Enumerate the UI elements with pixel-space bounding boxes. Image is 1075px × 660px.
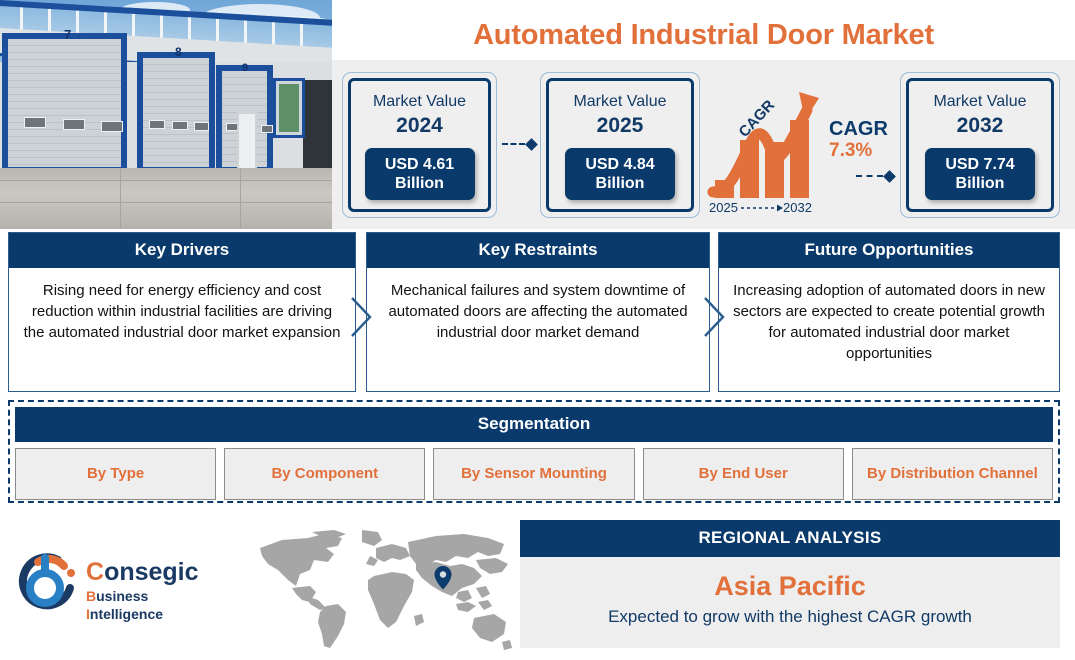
page-title: Automated Industrial Door Market	[332, 10, 1075, 60]
segmentation-item-by-component[interactable]: By Component	[224, 448, 425, 500]
panel-title: Key Drivers	[9, 233, 355, 268]
panel-future-opportunities: Future Opportunities Increasing adoption…	[718, 232, 1060, 392]
world-map-icon	[250, 530, 515, 655]
market-value-strip: Market Value 2024 USD 4.61 Billion Marke…	[332, 60, 1075, 229]
panel-title: Key Restraints	[367, 233, 709, 268]
chevron-right-icon-1	[350, 296, 372, 338]
company-logo[interactable]: Consegic Business Intelligence	[14, 546, 229, 618]
market-value-amount: USD 4.61 Billion	[365, 148, 475, 200]
segmentation-section: Segmentation By Type By Component By Sen…	[8, 400, 1060, 503]
regional-analysis-subtitle: Expected to grow with the highest CAGR g…	[520, 607, 1060, 627]
logo-tagline-rest: ntelligence	[90, 606, 163, 622]
logo-name-rest: onsegic	[104, 558, 198, 586]
segmentation-item-by-type[interactable]: By Type	[15, 448, 216, 500]
panel-text: Increasing adoption of automated doors i…	[719, 268, 1059, 364]
door-number-9: 9	[242, 62, 248, 74]
cagr-start-year: 2025	[709, 200, 738, 215]
panel-title: Future Opportunities	[719, 233, 1059, 268]
panel-key-drivers: Key Drivers Rising need for energy effic…	[8, 232, 356, 392]
panel-text: Rising need for energy efficiency and co…	[9, 268, 355, 343]
logo-tagline-usiness: usiness	[96, 588, 148, 604]
regional-analysis-region: Asia Pacific	[520, 571, 1060, 602]
open-bay	[303, 80, 332, 173]
regional-analysis-panel: REGIONAL ANALYSIS Asia Pacific Expected …	[520, 520, 1060, 648]
market-value-number: USD 7.74	[945, 156, 1014, 173]
logo-wordmark: Consegic Business Intelligence	[86, 558, 229, 623]
panel-text: Mechanical failures and system downtime …	[367, 268, 709, 343]
door-number-7: 7	[64, 27, 71, 42]
cagr-growth-chart: CAGR 2025 2032 CAGR 7.3%	[707, 80, 897, 215]
market-value-card-2025: Market Value 2025 USD 4.84 Billion	[540, 72, 700, 218]
market-value-year: 2024	[396, 113, 443, 139]
chevron-right-icon-2	[703, 296, 725, 338]
world-map	[250, 530, 515, 655]
segmentation-item-by-distribution-channel[interactable]: By Distribution Channel	[852, 448, 1053, 500]
infographic-page: 7 8 9 Automated Industrial Door Market M…	[0, 0, 1075, 660]
consegic-logo-icon	[14, 548, 80, 614]
logo-name: Consegic	[86, 558, 229, 586]
market-value-year: 2025	[597, 113, 644, 139]
ground-pavement	[0, 168, 332, 229]
segmentation-item-by-end-user[interactable]: By End User	[643, 448, 844, 500]
connector-dashed-1	[502, 138, 536, 150]
market-value-number: USD 4.84	[585, 156, 654, 173]
market-value-number: USD 4.61	[385, 156, 454, 173]
regional-analysis-heading: REGIONAL ANALYSIS	[520, 520, 1060, 557]
market-value-unit: Billion	[596, 175, 645, 192]
connector-dashed-2	[856, 170, 894, 182]
market-value-unit: Billion	[956, 175, 1005, 192]
segmentation-row: By Type By Component By Sensor Mounting …	[15, 448, 1053, 500]
market-value-label: Market Value	[573, 92, 666, 112]
panel-key-restraints: Key Restraints Mechanical failures and s…	[366, 232, 710, 392]
market-value-year: 2032	[957, 113, 1004, 139]
market-value-amount: USD 4.84 Billion	[565, 148, 675, 200]
market-value-unit: Billion	[395, 175, 444, 192]
personnel-door	[237, 112, 257, 173]
market-value-card-2024: Market Value 2024 USD 4.61 Billion	[342, 72, 497, 218]
cagr-value-block: CAGR 7.3%	[829, 118, 888, 162]
logo-tagline-b: B	[86, 588, 96, 604]
market-value-label: Market Value	[933, 92, 1026, 112]
garage-door-7	[2, 33, 127, 173]
cagr-end-year: 2032	[783, 200, 812, 215]
cagr-value: 7.3%	[829, 140, 888, 162]
cagr-title: CAGR	[829, 118, 888, 140]
door-number-8: 8	[175, 45, 182, 59]
segmentation-item-by-sensor-mounting[interactable]: By Sensor Mounting	[433, 448, 634, 500]
logo-tagline: Business Intelligence	[86, 587, 229, 623]
market-value-label: Market Value	[373, 92, 466, 112]
garage-door-8	[137, 52, 215, 173]
segmentation-title: Segmentation	[15, 407, 1053, 442]
market-value-card-2032: Market Value 2032 USD 7.74 Billion	[900, 72, 1060, 218]
office-window	[273, 78, 305, 138]
industrial-door-photo: 7 8 9	[0, 0, 332, 229]
market-value-amount: USD 7.74 Billion	[925, 148, 1035, 200]
logo-name-accent: C	[86, 558, 104, 586]
